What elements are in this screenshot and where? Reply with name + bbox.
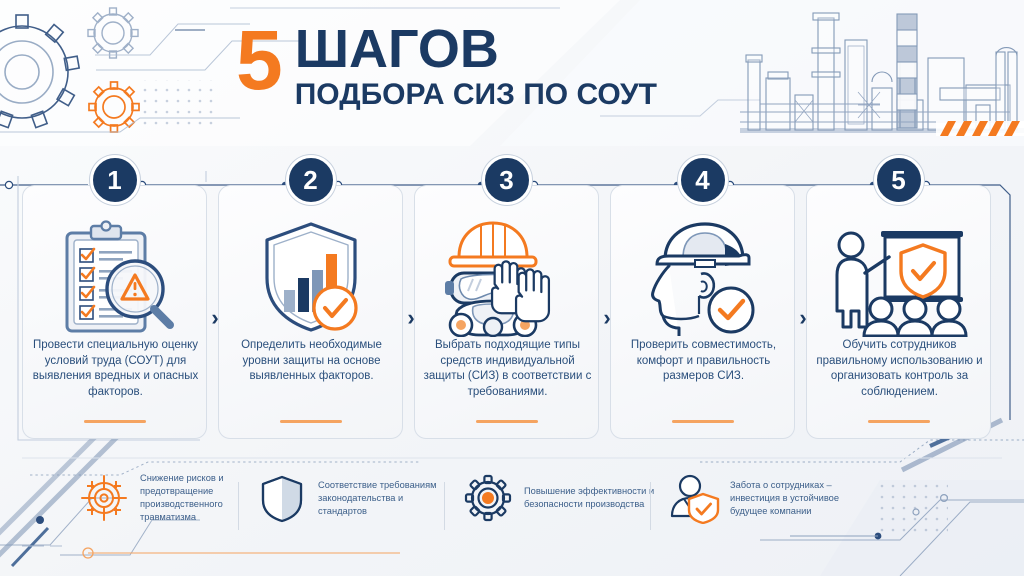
benefit-divider-1 xyxy=(238,482,239,530)
step-badge-1: 1 xyxy=(90,155,140,205)
helmet-goggles-respirator-gloves-icon xyxy=(415,216,598,336)
benefit-divider-3 xyxy=(650,482,651,530)
clipboard-checklist-magnifier-warning-icon xyxy=(23,216,206,336)
step-text-4: Проверить совместимость, комфорт и прави… xyxy=(619,338,788,385)
target-crosshair-icon xyxy=(78,472,130,524)
step-rule-2 xyxy=(280,420,342,423)
page-title: ШАГОВ xyxy=(295,23,657,75)
benefit-text-4: Забота о сотрудниках – инвестиция в усто… xyxy=(730,479,862,518)
chevron-right-icon-4: › xyxy=(793,304,813,332)
header: 5 ШАГОВ ПОДБОРА СИЗ ПО СОУТ xyxy=(0,0,1024,146)
step-badge-4: 4 xyxy=(678,155,728,205)
benefit-item-3[interactable]: Повышение эффективности и безопасности п… xyxy=(462,472,656,524)
step-rule-1 xyxy=(84,420,146,423)
step-text-1: Провести специальную оценку условий труд… xyxy=(31,338,200,400)
big-number: 5 xyxy=(236,21,281,99)
benefit-item-4[interactable]: Забота о сотрудниках – инвестиция в усто… xyxy=(668,472,862,524)
benefit-divider-2 xyxy=(444,482,445,530)
gear-icon xyxy=(462,472,514,524)
shield-bar-chart-check-icon xyxy=(219,216,402,336)
person-shield-check-icon xyxy=(668,472,720,524)
step-rule-5 xyxy=(868,420,930,423)
worker-head-helmet-check-icon xyxy=(611,216,794,336)
steps-row: 1 xyxy=(0,152,1024,452)
step-badge-2: 2 xyxy=(286,155,336,205)
benefit-text-3: Повышение эффективности и безопасности п… xyxy=(524,485,656,511)
step-text-3: Выбрать подходящие типы средств индивиду… xyxy=(423,338,592,400)
step-card-5[interactable]: 5 xyxy=(806,185,991,439)
step-badge-3: 3 xyxy=(482,155,532,205)
benefit-item-2[interactable]: Соответствие требованиям законодательств… xyxy=(256,472,450,524)
benefit-text-1: Снижение рисков и предотвращение произво… xyxy=(140,472,272,524)
chevron-right-icon-2: › xyxy=(401,304,421,332)
step-card-4[interactable]: 4 xyxy=(610,185,795,439)
benefit-text-2: Соответствие требованиям законодательств… xyxy=(318,479,450,518)
step-card-3[interactable]: 3 xyxy=(414,185,599,439)
page-subtitle: ПОДБОРА СИЗ ПО СОУТ xyxy=(295,78,657,112)
title-block: 5 ШАГОВ ПОДБОРА СИЗ ПО СОУТ xyxy=(236,21,657,112)
step-card-2[interactable]: 2 Определить необходимые уровни защиты н… xyxy=(218,185,403,439)
trainer-board-audience-shield-icon xyxy=(807,216,990,336)
step-rule-4 xyxy=(672,420,734,423)
chevron-right-icon-1: › xyxy=(205,304,225,332)
shield-icon xyxy=(256,472,308,524)
step-text-2: Определить необходимые уровни защиты на … xyxy=(227,338,396,385)
benefits-row: Снижение рисков и предотвращение произво… xyxy=(0,466,1024,548)
step-rule-3 xyxy=(476,420,538,423)
infographic-root: 5 ШАГОВ ПОДБОРА СИЗ ПО СОУТ 1 xyxy=(0,0,1024,576)
step-card-1[interactable]: 1 xyxy=(22,185,207,439)
benefit-item-1[interactable]: Снижение рисков и предотвращение произво… xyxy=(78,472,272,524)
step-badge-5: 5 xyxy=(874,155,924,205)
chevron-right-icon-3: › xyxy=(597,304,617,332)
step-text-5: Обучить сотрудников правильному использо… xyxy=(815,338,984,400)
